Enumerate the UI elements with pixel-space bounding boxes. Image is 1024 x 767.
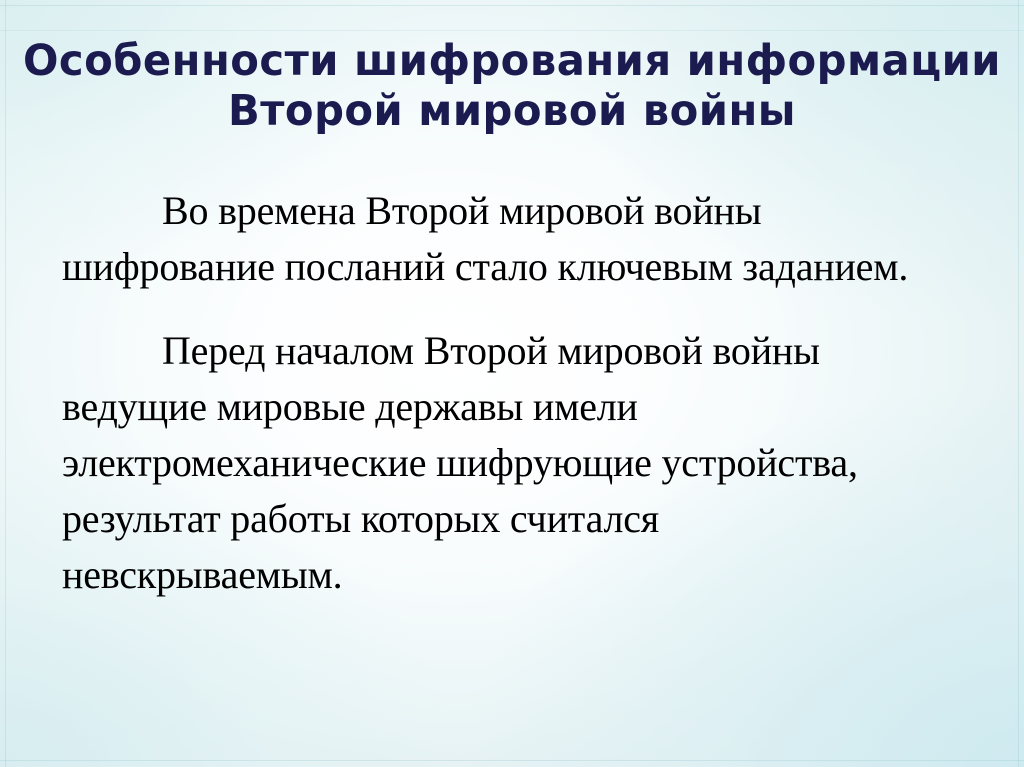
presentation-slide: Особенности шифрования информации Второй… — [0, 0, 1024, 767]
slide-body: Во времена Второй мировой войны шифрован… — [62, 183, 942, 603]
slide-body-paragraph-1: Во времена Второй мировой войны шифрован… — [62, 183, 942, 295]
slide-body-paragraph-2: Перед началом Второй мировой войны ведущ… — [62, 323, 942, 603]
slide-title-line-2: Второй мировой войны — [15, 86, 1008, 136]
slide-title: Особенности шифрования информации Второй… — [0, 36, 1024, 136]
slide-title-line-1: Особенности шифрования информации — [15, 36, 1008, 86]
